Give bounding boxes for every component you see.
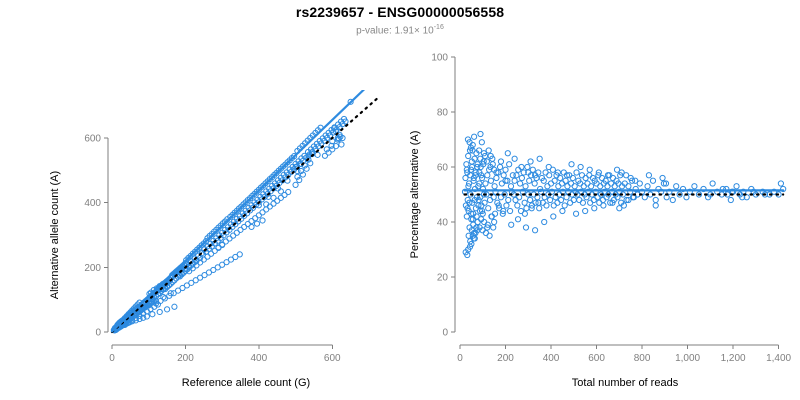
data-point	[286, 189, 291, 194]
data-point	[527, 178, 532, 183]
data-point	[609, 181, 614, 186]
data-point	[339, 142, 344, 147]
data-point	[592, 206, 597, 211]
data-point	[487, 233, 492, 238]
y-tick-label: 400	[84, 198, 101, 209]
data-point	[483, 181, 488, 186]
data-point	[537, 156, 542, 161]
data-point	[585, 181, 590, 186]
data-point	[547, 173, 552, 178]
data-point	[533, 228, 538, 233]
data-point	[556, 184, 561, 189]
data-point	[600, 197, 605, 202]
data-point	[161, 294, 166, 299]
y-axis-title: Percentage alternative (A)	[409, 131, 421, 259]
data-point	[580, 200, 585, 205]
y-axis: 0200400600	[84, 134, 108, 339]
x-tick-label: 1,000	[675, 353, 700, 364]
data-point	[551, 214, 556, 219]
data-point	[588, 200, 593, 205]
x-tick-label: 800	[634, 353, 651, 364]
data-point	[587, 173, 592, 178]
data-point	[509, 222, 514, 227]
data-point	[626, 184, 631, 189]
data-point	[478, 131, 483, 136]
data-point	[550, 167, 555, 172]
data-point	[254, 221, 259, 226]
scatter-panel-percentage-vs-reads: 02040608010002004006008001,0001,2001,400…	[400, 0, 800, 400]
plot-figure: rs2239657 - ENSG00000056558 p-value: 1.9…	[0, 0, 800, 400]
y-axis-title: Alternative allele count (A)	[49, 171, 61, 299]
y-tick-label: 80	[437, 108, 449, 119]
data-point	[562, 203, 567, 208]
y-tick-label: 20	[437, 273, 449, 284]
data-point	[734, 184, 739, 189]
data-point	[548, 197, 553, 202]
data-point	[583, 208, 588, 213]
scatter-panel-reference-vs-alternative: 02004006000200400600Reference allele cou…	[0, 0, 400, 400]
x-tick-label: 600	[324, 353, 341, 364]
x-axis-title: Reference allele count (G)	[182, 377, 310, 389]
data-point	[512, 156, 517, 161]
y-tick-label: 0	[95, 328, 101, 339]
y-axis: 020406080100	[431, 53, 455, 339]
data-point	[650, 178, 655, 183]
data-point	[646, 173, 651, 178]
data-point	[568, 200, 573, 205]
data-point	[506, 197, 511, 202]
data-point	[488, 178, 493, 183]
data-point	[472, 134, 477, 139]
data-point	[315, 152, 320, 157]
data-point	[237, 252, 242, 257]
data-point	[293, 182, 298, 187]
data-point	[581, 184, 586, 189]
data-point	[563, 178, 568, 183]
y-tick-label: 0	[442, 328, 448, 339]
data-point	[485, 173, 490, 178]
data-point	[610, 175, 615, 180]
data-point	[572, 184, 577, 189]
data-point	[565, 184, 570, 189]
data-point	[486, 206, 491, 211]
x-tick-label: 0	[457, 353, 463, 364]
y-tick-label: 60	[437, 163, 449, 174]
data-point	[278, 189, 283, 194]
data-point	[508, 184, 513, 189]
data-point	[552, 178, 557, 183]
x-axis: 0200400600	[109, 345, 341, 364]
data-point	[515, 203, 520, 208]
data-point	[483, 230, 488, 235]
data-point	[523, 225, 528, 230]
data-point	[271, 195, 276, 200]
data-point	[571, 197, 576, 202]
data-point	[518, 208, 523, 213]
x-tick-label: 1,400	[766, 353, 791, 364]
data-point	[491, 225, 496, 230]
data-point	[498, 195, 503, 200]
data-point	[560, 208, 565, 213]
data-point	[487, 197, 492, 202]
data-point	[674, 184, 679, 189]
data-point	[670, 197, 675, 202]
data-point	[479, 140, 484, 145]
data-layer	[111, 88, 380, 333]
data-point	[597, 200, 602, 205]
data-point	[570, 175, 575, 180]
data-point	[466, 153, 471, 158]
data-point	[260, 218, 265, 223]
data-point	[692, 184, 697, 189]
data-point	[543, 170, 548, 175]
data-point	[645, 184, 650, 189]
data-point	[532, 181, 537, 186]
data-point	[504, 203, 509, 208]
data-point	[555, 200, 560, 205]
data-point	[249, 224, 254, 229]
data-point	[653, 203, 658, 208]
x-tick-label: 200	[177, 353, 194, 364]
data-point	[497, 164, 502, 169]
x-tick-label: 1,200	[721, 353, 746, 364]
data-point	[157, 309, 162, 314]
data-point	[512, 178, 517, 183]
right-plot-svg: 02040608010002004006008001,0001,2001,400…	[400, 0, 800, 400]
data-point	[486, 148, 491, 153]
data-point	[498, 159, 503, 164]
data-point	[545, 184, 550, 189]
data-point	[599, 175, 604, 180]
x-tick-label: 400	[251, 353, 268, 364]
data-point	[568, 181, 573, 186]
data-point	[524, 206, 529, 211]
data-point	[583, 175, 588, 180]
data-point	[513, 197, 518, 202]
y-tick-label: 600	[84, 134, 101, 145]
data-point	[577, 197, 582, 202]
data-point	[484, 159, 489, 164]
data-point	[728, 197, 733, 202]
y-tick-label: 40	[437, 218, 449, 229]
data-point	[778, 181, 783, 186]
data-point	[558, 175, 563, 180]
data-point	[559, 181, 564, 186]
data-point	[507, 208, 512, 213]
data-point	[523, 184, 528, 189]
data-point	[605, 184, 610, 189]
data-point	[548, 181, 553, 186]
data-point	[528, 197, 533, 202]
data-point	[653, 197, 658, 202]
data-point	[463, 175, 468, 180]
data-point	[503, 167, 508, 172]
data-point	[494, 175, 499, 180]
data-point	[172, 304, 177, 309]
data-point	[528, 159, 533, 164]
data-point	[499, 181, 504, 186]
data-point	[517, 181, 522, 186]
y-tick-label: 200	[84, 263, 101, 274]
x-tick-label: 0	[109, 353, 115, 364]
data-point	[164, 307, 169, 312]
fit-line	[112, 88, 365, 331]
data-point	[551, 203, 556, 208]
data-point	[537, 206, 542, 211]
x-tick-label: 400	[543, 353, 560, 364]
y-tick-label: 100	[431, 53, 448, 64]
data-point	[637, 181, 642, 186]
data-point	[515, 217, 520, 222]
data-point	[525, 164, 530, 169]
data-point	[514, 173, 519, 178]
data-point	[530, 167, 535, 172]
x-axis-title: Total number of reads	[572, 377, 679, 389]
data-point	[574, 170, 579, 175]
x-tick-label: 600	[588, 353, 605, 364]
data-point	[474, 214, 479, 219]
data-point	[150, 312, 155, 317]
data-point	[505, 151, 510, 156]
data-point	[598, 184, 603, 189]
x-tick-label: 200	[497, 353, 514, 364]
data-point	[612, 184, 617, 189]
data-point	[522, 200, 527, 205]
left-plot-svg: 02004006000200400600Reference allele cou…	[0, 0, 400, 400]
data-point	[588, 184, 593, 189]
data-point	[591, 197, 596, 202]
data-point	[507, 162, 512, 167]
data-point	[660, 175, 665, 180]
data-point	[579, 173, 584, 178]
data-point	[492, 219, 497, 224]
data-point	[492, 184, 497, 189]
data-point	[569, 162, 574, 167]
data-point	[578, 164, 583, 169]
data-point	[573, 211, 578, 216]
data-point	[501, 173, 506, 178]
data-point	[519, 175, 524, 180]
data-layer	[462, 131, 785, 257]
data-point	[464, 162, 469, 167]
data-point	[587, 167, 592, 172]
data-point	[558, 197, 563, 202]
data-point	[710, 181, 715, 186]
x-axis: 02004006008001,0001,2001,400	[457, 345, 791, 364]
data-point	[544, 203, 549, 208]
data-point	[542, 219, 547, 224]
